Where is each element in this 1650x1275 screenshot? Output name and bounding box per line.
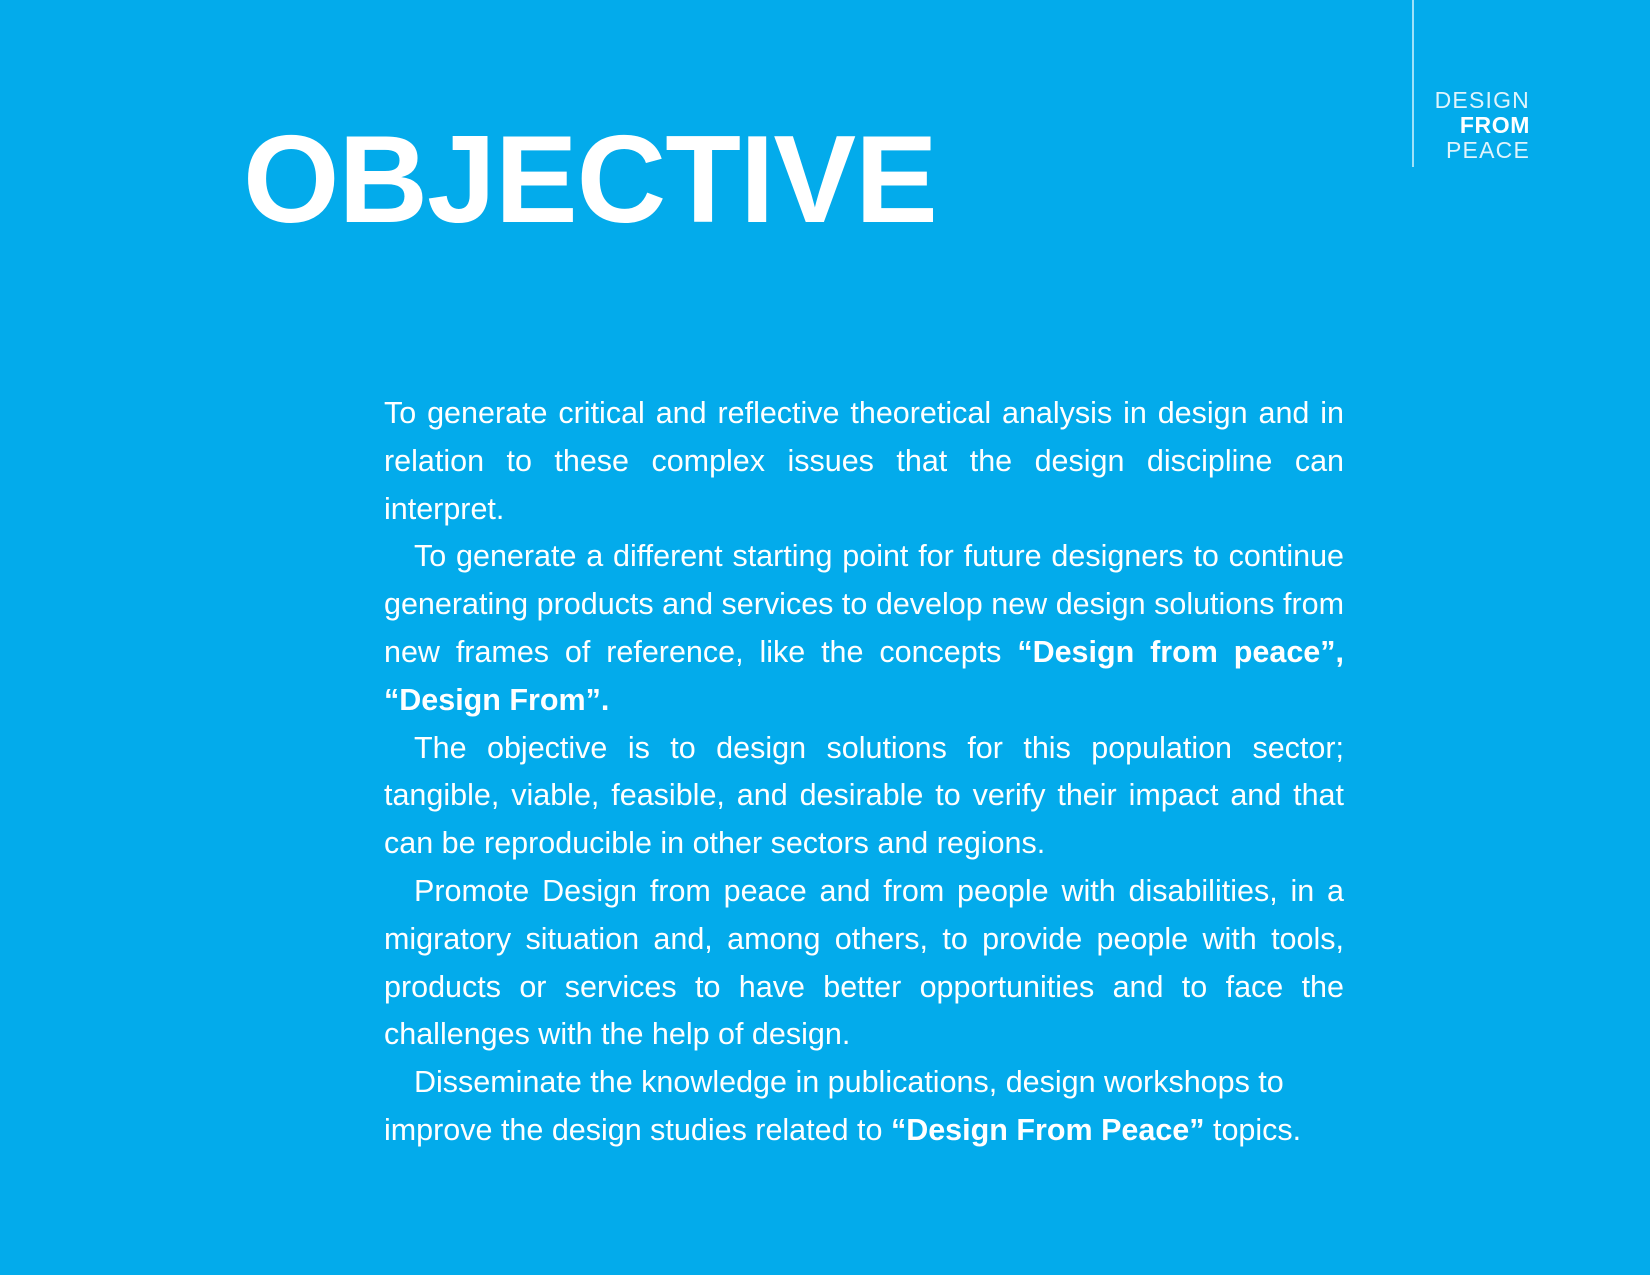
body-text: topics. <box>1205 1113 1302 1147</box>
emphasis-text: “Design From Peace” <box>891 1113 1205 1147</box>
page-title: OBJECTIVE <box>243 118 937 242</box>
body-paragraph: To generate a different starting point f… <box>384 533 1344 724</box>
brand-mark: DESIGN FROM PEACE <box>1412 0 1650 175</box>
brand-line-from: FROM <box>1435 113 1530 138</box>
brand-divider-rule <box>1412 0 1414 167</box>
brand-line-peace: PEACE <box>1435 138 1530 163</box>
body-text: Promote Design from peace and from peopl… <box>384 874 1344 1051</box>
body-text: To generate critical and reflective theo… <box>384 396 1344 526</box>
brand-line-design: DESIGN <box>1435 88 1530 113</box>
objective-body-copy: To generate critical and reflective theo… <box>384 390 1344 1155</box>
body-paragraph: Disseminate the knowledge in publication… <box>384 1059 1344 1155</box>
body-paragraph: To generate critical and reflective theo… <box>384 390 1344 533</box>
slide-canvas: DESIGN FROM PEACE OBJECTIVE To generate … <box>0 0 1650 1275</box>
body-text: The objective is to design solutions for… <box>384 731 1344 861</box>
body-paragraph: Promote Design from peace and from peopl… <box>384 868 1344 1059</box>
body-paragraph: The objective is to design solutions for… <box>384 725 1344 868</box>
brand-logo-text: DESIGN FROM PEACE <box>1435 88 1530 163</box>
